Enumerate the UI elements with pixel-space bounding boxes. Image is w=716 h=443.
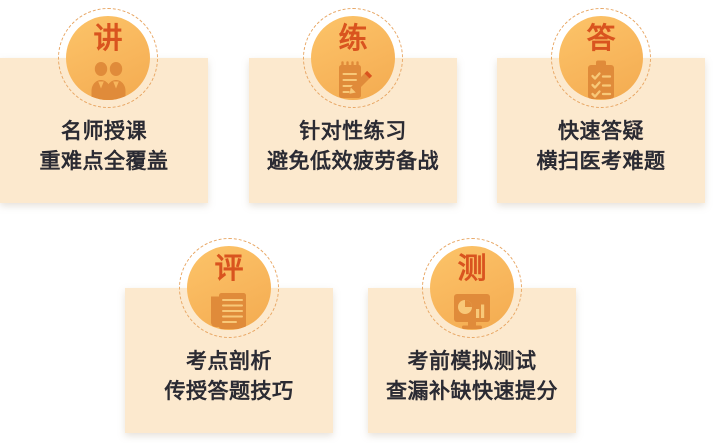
card-text: 名师授课 重难点全覆盖 <box>0 117 208 177</box>
card-line-primary: 考点剖析 <box>125 347 333 377</box>
card-text: 考点剖析 传授答题技巧 <box>125 347 333 407</box>
card-line-secondary: 横扫医考难题 <box>497 147 705 177</box>
card-line-secondary: 查漏补缺快速提分 <box>368 377 576 407</box>
card-line-primary: 名师授课 <box>0 117 208 147</box>
notepad-pencil-icon <box>331 60 375 100</box>
teacher-people-icon <box>86 60 130 100</box>
card-text: 快速答疑 横扫医考难题 <box>497 117 705 177</box>
card-line-primary: 快速答疑 <box>497 117 705 147</box>
badge-disc: 测 <box>430 246 514 330</box>
chart-screen-icon <box>450 290 494 330</box>
badge-character: 练 <box>311 25 395 54</box>
card-text: 考前模拟测试 查漏补缺快速提分 <box>368 347 576 407</box>
feature-badge: 测 <box>422 238 522 338</box>
feature-badge: 讲 <box>58 8 158 108</box>
document-scroll-icon <box>207 290 251 330</box>
badge-disc: 练 <box>311 16 395 100</box>
badge-character: 测 <box>430 255 514 284</box>
card-line-secondary: 重难点全覆盖 <box>0 147 208 177</box>
clipboard-checklist-icon <box>579 60 623 100</box>
badge-disc: 评 <box>187 246 271 330</box>
feature-cards-board: 名师授课 重难点全覆盖 针对性练习 避免低效疲劳备战 快速答疑 横扫医考难题 考… <box>0 0 716 443</box>
card-line-primary: 考前模拟测试 <box>368 347 576 377</box>
badge-disc: 讲 <box>66 16 150 100</box>
feature-badge: 练 <box>303 8 403 108</box>
card-line-secondary: 避免低效疲劳备战 <box>249 147 457 177</box>
card-line-secondary: 传授答题技巧 <box>125 377 333 407</box>
badge-disc: 答 <box>559 16 643 100</box>
feature-badge: 答 <box>551 8 651 108</box>
card-line-primary: 针对性练习 <box>249 117 457 147</box>
badge-character: 讲 <box>66 25 150 54</box>
badge-character: 评 <box>187 255 271 284</box>
badge-character: 答 <box>559 25 643 54</box>
card-text: 针对性练习 避免低效疲劳备战 <box>249 117 457 177</box>
feature-badge: 评 <box>179 238 279 338</box>
